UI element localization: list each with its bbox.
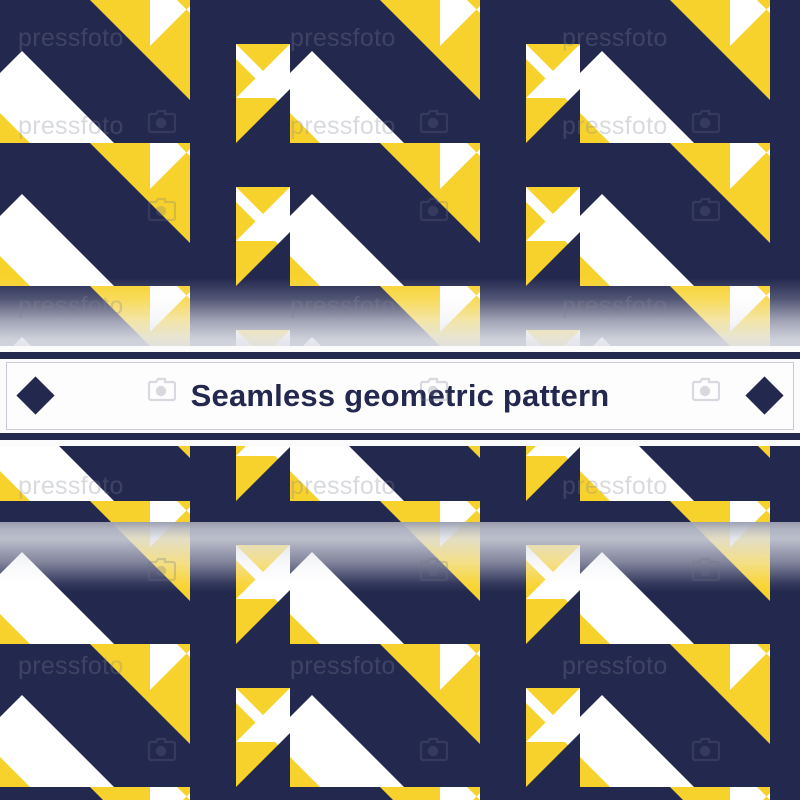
banner-rule-bottom <box>0 433 800 440</box>
pattern-panel-bottom <box>0 440 800 800</box>
geometric-pattern-top <box>0 0 800 352</box>
pattern-preview-canvas: Seamless geometric pattern pressfotopres… <box>0 0 800 800</box>
geometric-pattern-bottom <box>0 440 800 800</box>
page-title: Seamless geometric pattern <box>0 364 800 428</box>
pattern-panel-top <box>0 0 800 352</box>
title-banner: Seamless geometric pattern <box>0 346 800 446</box>
banner-rule-top <box>0 352 800 359</box>
